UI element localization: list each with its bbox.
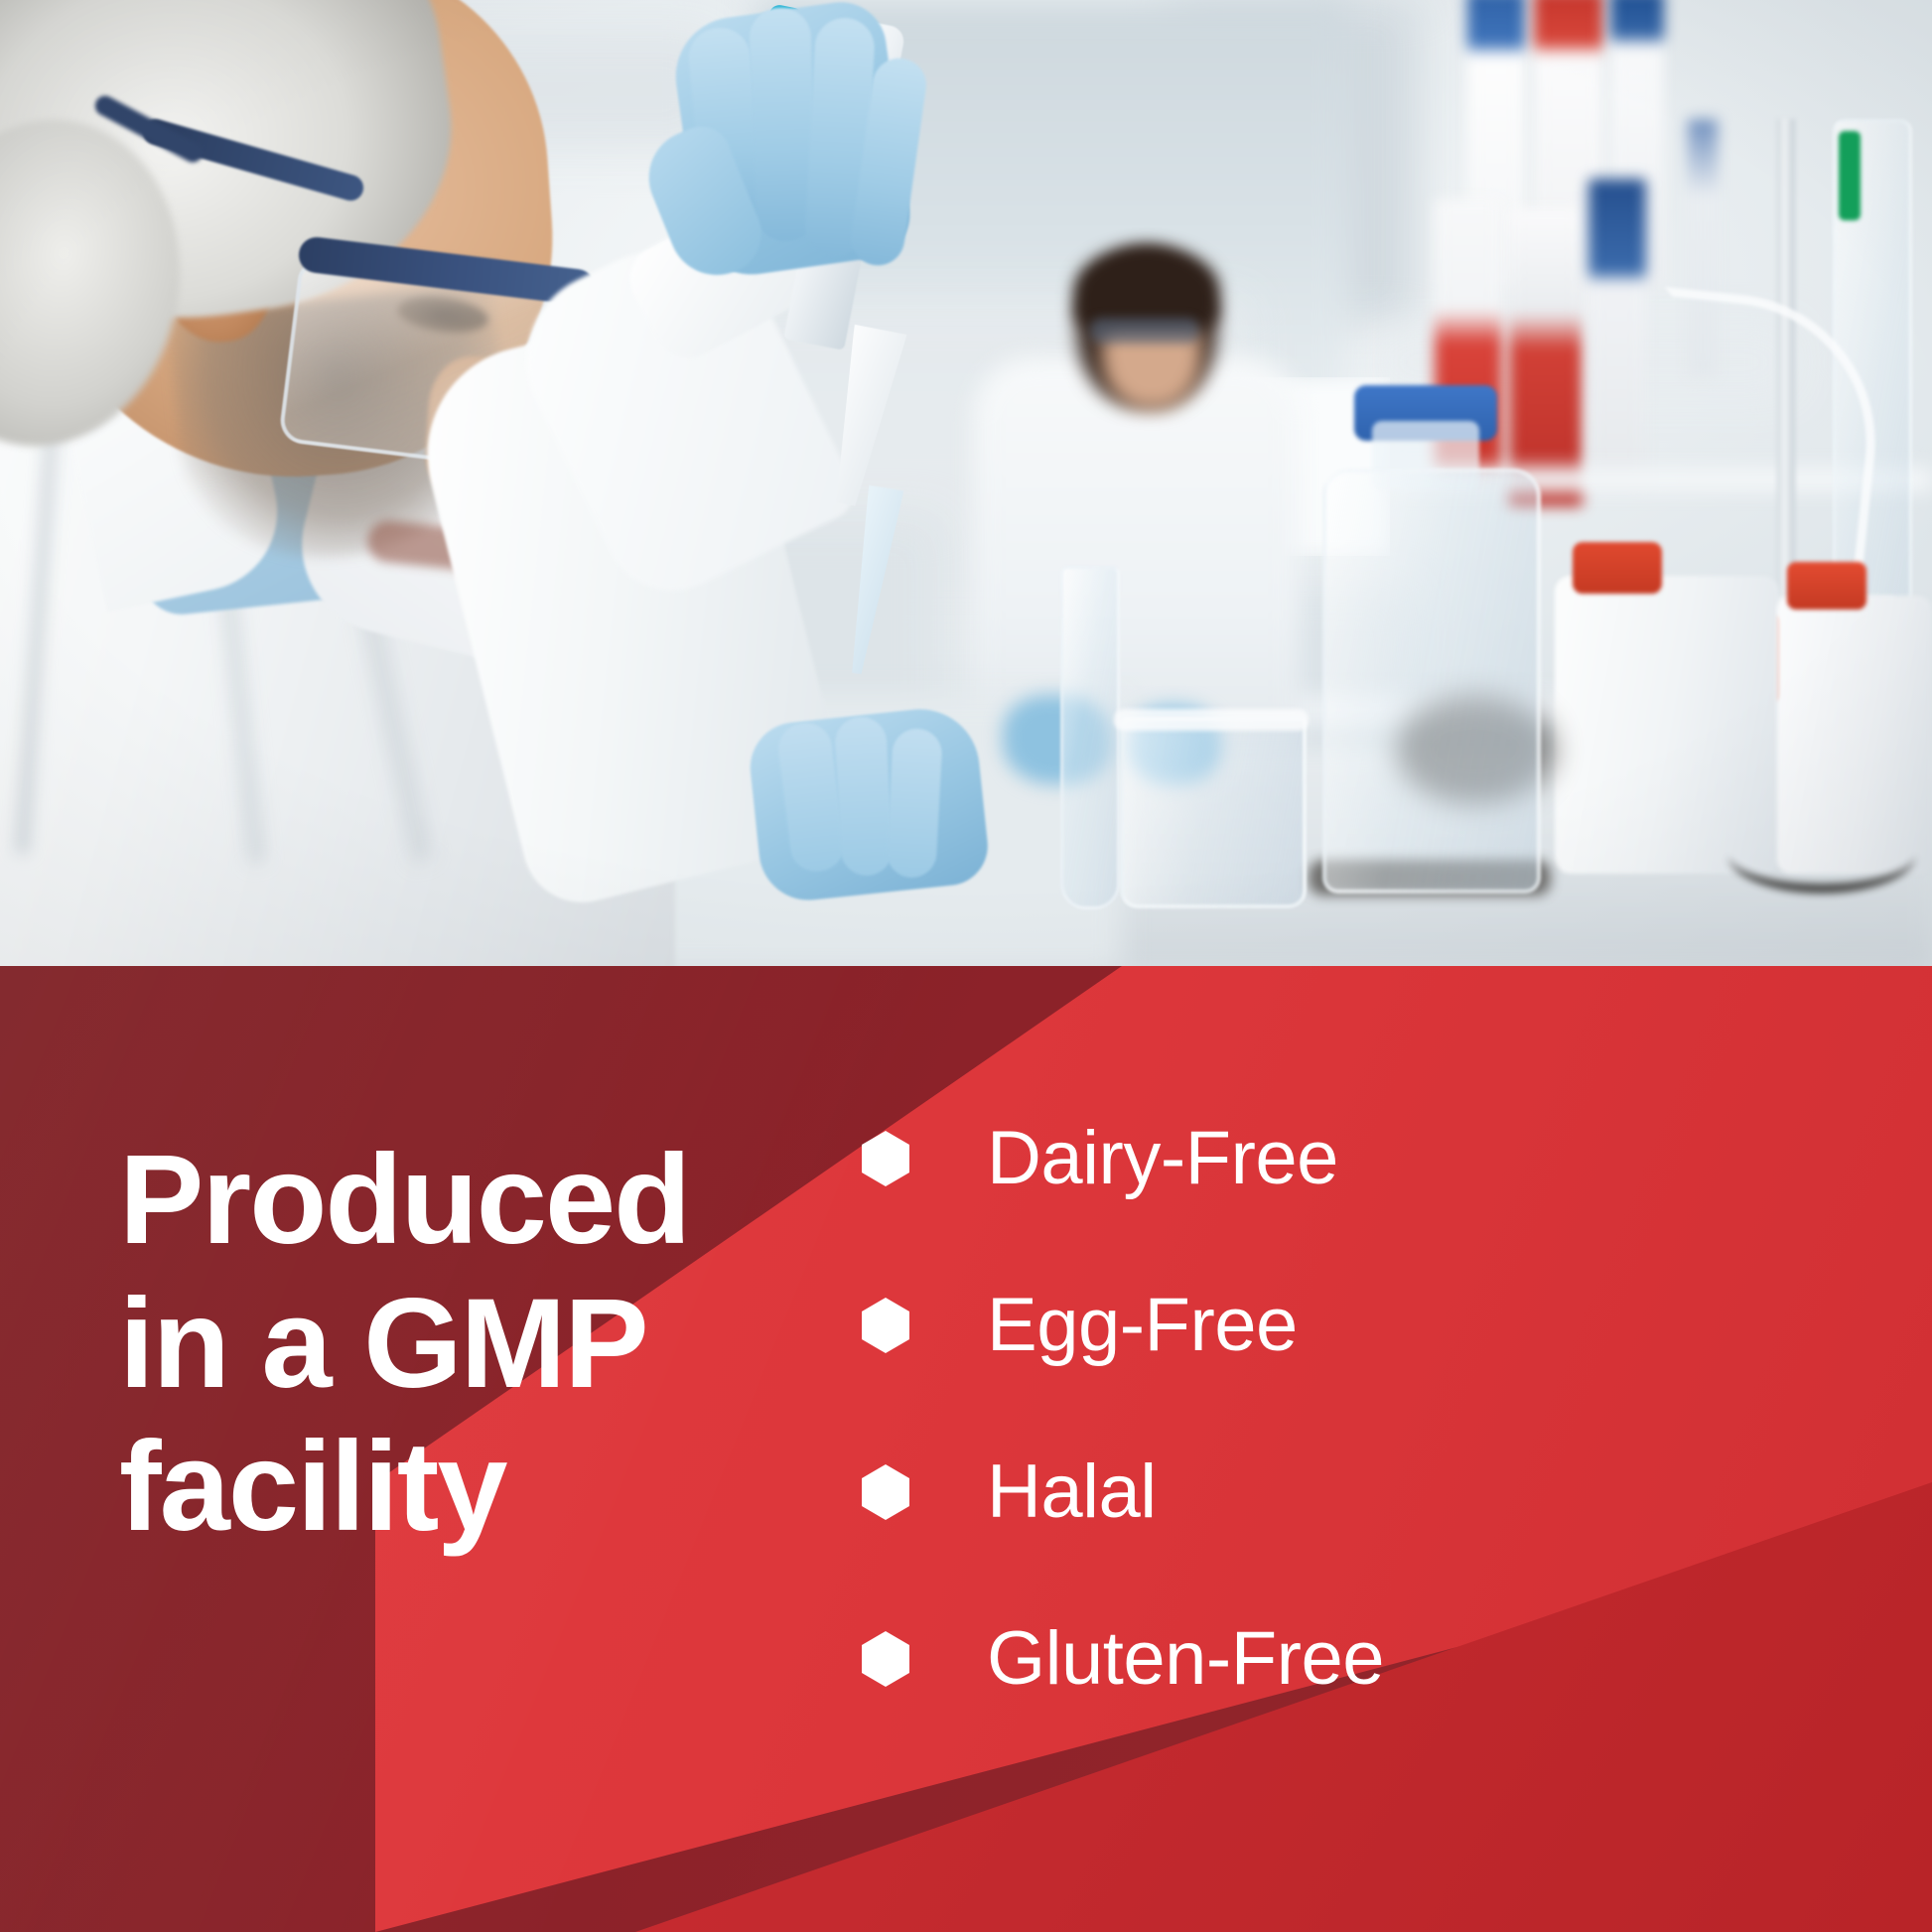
list-item: Egg-Free <box>862 1242 1755 1409</box>
burette-green-marker <box>1839 131 1861 220</box>
list-item: Dairy-Free <box>862 1075 1755 1242</box>
banner-canvas: Produced in a GMP facility Dairy-Free Eg… <box>0 0 1932 1932</box>
red-info-panel: Produced in a GMP facility Dairy-Free Eg… <box>0 966 1932 1932</box>
claims-list: Dairy-Free Egg-Free Halal Gluten-Free <box>862 1075 1755 1742</box>
test-tube <box>1060 566 1120 909</box>
reagent-box <box>1588 179 1646 486</box>
jerrycan-red-cap <box>1573 542 1662 594</box>
beaker <box>1120 717 1307 908</box>
list-item: Halal <box>862 1409 1755 1576</box>
reagent-box <box>1509 208 1583 506</box>
power-cable <box>1727 814 1916 894</box>
claim-label-egg-free: Egg-Free <box>987 1288 1298 1363</box>
glove-finger <box>886 728 943 879</box>
page-title: Produced in a GMP facility <box>119 1129 755 1560</box>
hexagon-bullet-icon <box>862 1464 909 1520</box>
glove-finger <box>834 716 894 878</box>
hexagon-bullet-icon <box>862 1631 909 1687</box>
hexagon-bullet-icon <box>862 1131 909 1186</box>
hexagon-bullet-icon <box>862 1298 909 1353</box>
claim-label-gluten-free: Gluten-Free <box>987 1621 1384 1697</box>
claim-label-dairy-free: Dairy-Free <box>987 1121 1338 1196</box>
reagent-bottle <box>1322 469 1541 894</box>
beaker-rim <box>1114 709 1309 731</box>
claim-label-halal: Halal <box>987 1454 1157 1530</box>
lab-photo <box>0 0 1932 966</box>
jerrycan-red-cap <box>1787 562 1866 610</box>
list-item: Gluten-Free <box>862 1576 1755 1742</box>
safety-goggles-icon <box>1090 318 1199 344</box>
